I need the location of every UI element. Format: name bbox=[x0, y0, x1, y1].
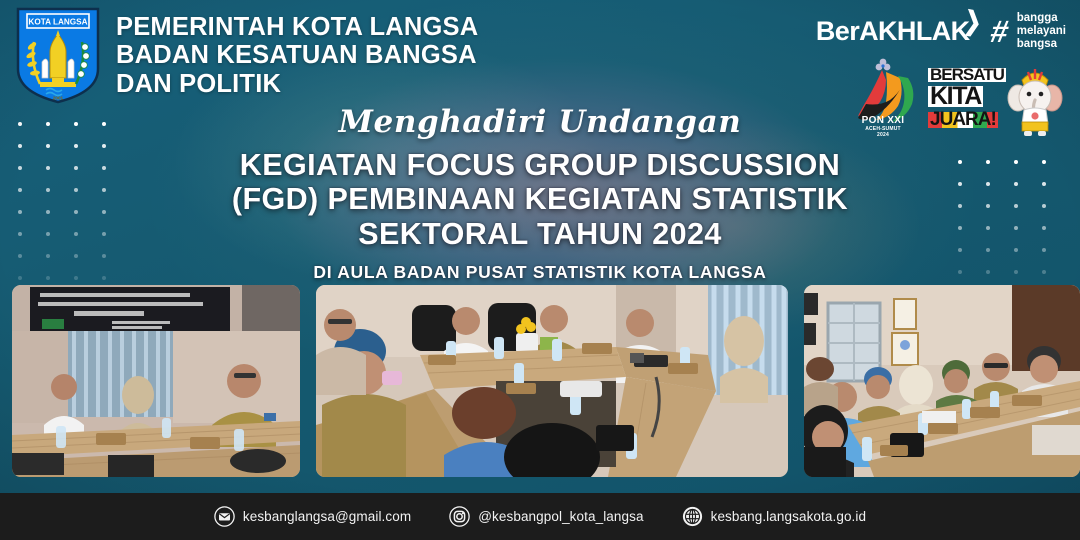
instagram-icon bbox=[449, 506, 470, 527]
tagline-line-1: bangga bbox=[1017, 12, 1066, 25]
tagline-line-3: bangsa bbox=[1017, 38, 1066, 51]
script-subtitle: Menghadiri Undangan bbox=[0, 104, 1080, 140]
title-line-3: SEKTORAL TAHUN 2024 bbox=[0, 217, 1080, 251]
contact-instagram[interactable]: @kesbangpol_kota_langsa bbox=[449, 506, 643, 527]
berakhlak-logo: BerAKHLAK ❯ # bangga melayani bangsa bbox=[816, 12, 1066, 51]
organization-name: PEMERINTAH KOTA LANGSA BADAN KESATUAN BA… bbox=[116, 13, 478, 98]
crest-banner-text: KOTA LANGSA bbox=[28, 18, 87, 27]
photo-gallery bbox=[12, 285, 1080, 477]
kota-langsa-crest-icon: KOTA LANGSA bbox=[14, 6, 102, 105]
berakhlak-text: BerAKHLAK bbox=[816, 16, 970, 46]
title-line-2: (FGD) PEMBINAAN KEGIATAN STATISTIK bbox=[0, 182, 1080, 216]
title-line-1: KEGIATAN FOCUS GROUP DISCUSSION bbox=[0, 148, 1080, 182]
footer-contact-bar: kesbanglangsa@gmail.com @kesbangpol_kota… bbox=[0, 493, 1080, 540]
slogan-line-1: BERSATU bbox=[928, 68, 1006, 82]
tagline-line-2: melayani bbox=[1017, 25, 1066, 38]
header: KOTA LANGSA bbox=[14, 6, 478, 105]
contact-website[interactable]: kesbang.langsakota.go.id bbox=[682, 506, 867, 527]
crest-year-text: 2001 bbox=[53, 96, 64, 101]
website-text: kesbang.langsakota.go.id bbox=[711, 509, 867, 524]
globe-icon bbox=[682, 506, 703, 527]
org-line-2: BADAN KESATUAN BANGSA bbox=[116, 41, 478, 69]
announcement-banner: KOTA LANGSA bbox=[0, 0, 1080, 540]
venue-text: DI AULA BADAN PUSAT STATISTIK KOTA LANGS… bbox=[0, 262, 1080, 283]
photo-3 bbox=[804, 285, 1080, 477]
berakhlak-chevron-icon: ❯ bbox=[963, 7, 983, 36]
hash-icon: # bbox=[988, 16, 1011, 47]
envelope-icon bbox=[214, 506, 235, 527]
contact-email[interactable]: kesbanglangsa@gmail.com bbox=[214, 506, 411, 527]
email-text: kesbanglangsa@gmail.com bbox=[243, 509, 411, 524]
photo-2 bbox=[316, 285, 788, 477]
title-block: Menghadiri Undangan KEGIATAN FOCUS GROUP… bbox=[0, 104, 1080, 283]
org-line-3: DAN POLITIK bbox=[116, 70, 478, 98]
photo-1 bbox=[12, 285, 300, 477]
berakhlak-tagline: bangga melayani bangsa bbox=[1017, 12, 1066, 51]
instagram-text: @kesbangpol_kota_langsa bbox=[478, 509, 643, 524]
berakhlak-wordmark: BerAKHLAK ❯ bbox=[816, 18, 970, 45]
org-line-1: PEMERINTAH KOTA LANGSA bbox=[116, 13, 478, 41]
